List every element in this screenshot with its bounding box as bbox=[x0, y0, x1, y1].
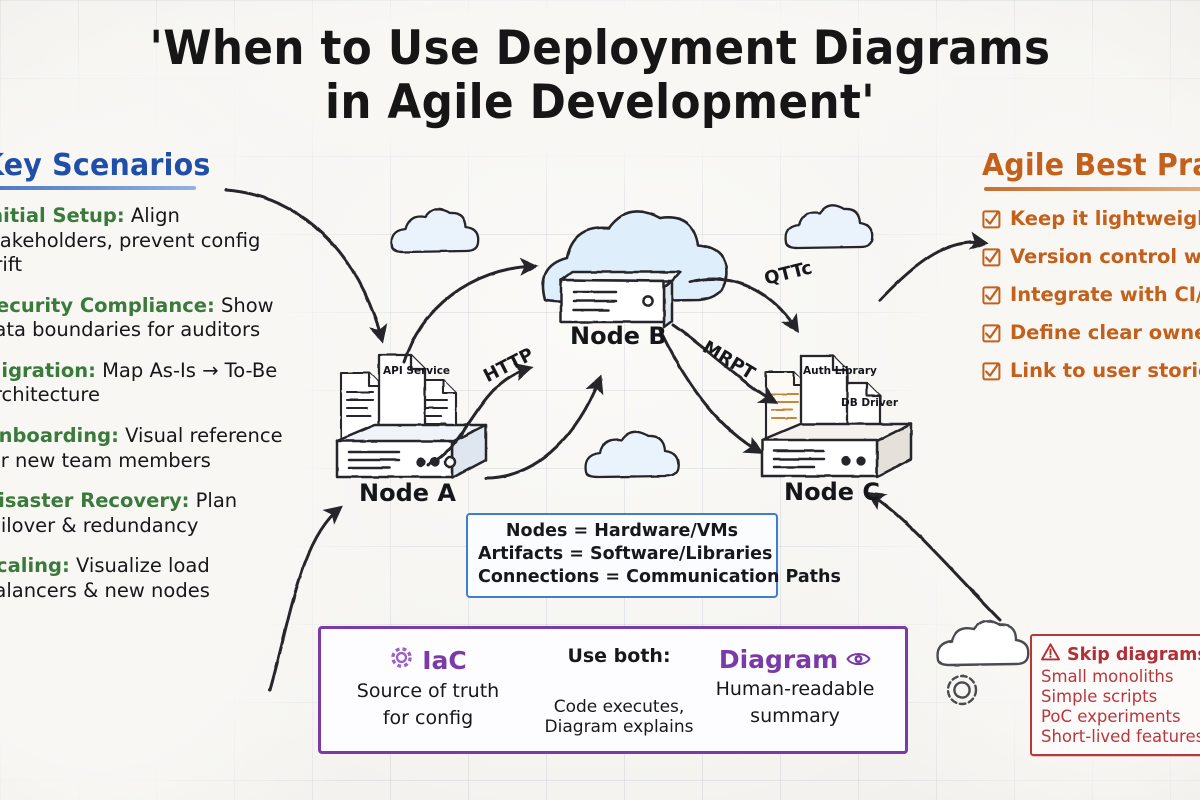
scenario-label: Security Compliance: bbox=[0, 294, 215, 317]
key-scenarios-underline bbox=[0, 186, 196, 190]
use-both-sub-line-1: Code executes, bbox=[539, 697, 699, 717]
practice-label: Integrate with CI/CD pipelines bbox=[1010, 283, 1200, 307]
eye-icon bbox=[846, 645, 871, 674]
warning-list-item: PoC experiments bbox=[1041, 707, 1200, 727]
scenario-label: Scaling: bbox=[0, 554, 70, 577]
iac-heading-text: IaC bbox=[422, 646, 467, 675]
iac-body-line-2: for config bbox=[335, 707, 521, 730]
gear-icon bbox=[389, 645, 414, 676]
agile-best-practices-heading: Agile Best Practices bbox=[982, 148, 1200, 183]
scenario-item: Initial Setup: Align stakeholders, preve… bbox=[0, 204, 294, 278]
cloud-icon bbox=[392, 209, 479, 252]
legend-line: Artifacts = Software/Libraries bbox=[478, 543, 766, 566]
agile-best-practices-underline bbox=[984, 187, 1200, 191]
diagram-heading-text: Diagram bbox=[719, 645, 838, 674]
cloud-icon bbox=[786, 205, 873, 248]
practice-label: Version control with code bbox=[1010, 245, 1200, 269]
agile-best-practices-panel: Agile Best Practices Keep it lightweight… bbox=[982, 148, 1200, 397]
scenario-item: Migration: Map As-Is → To-Be architectur… bbox=[0, 359, 294, 408]
practice-item: Define clear ownership bbox=[982, 321, 1200, 345]
practice-label: Keep it lightweight (<1hr update) bbox=[1010, 207, 1200, 231]
scenario-label: Migration: bbox=[0, 359, 96, 382]
scenario-label: Initial Setup: bbox=[0, 204, 125, 227]
iac-column: IaC Source of truth for config bbox=[335, 645, 521, 730]
practice-label: Link to user stories bbox=[1010, 359, 1200, 383]
arrow-right-to-node-c bbox=[870, 494, 1000, 620]
practice-item: Link to user stories bbox=[982, 359, 1200, 383]
checked-box-icon bbox=[982, 286, 1001, 305]
node-b-shape bbox=[561, 272, 680, 327]
diagram-column: Diagram Human-readable summary bbox=[697, 645, 893, 728]
iac-heading: IaC bbox=[335, 645, 521, 676]
arrow-node-to-right-panel bbox=[880, 242, 985, 300]
warning-list-item: Simple scripts bbox=[1041, 687, 1200, 707]
scenario-item: Disaster Recovery: Plan failover & redun… bbox=[0, 489, 294, 538]
cloud-icon bbox=[938, 621, 1029, 665]
diagram-heading: Diagram bbox=[697, 645, 893, 674]
checked-box-icon bbox=[982, 210, 1001, 229]
warning-triangle-icon bbox=[1041, 643, 1060, 666]
warning-header: Skip diagrams for: bbox=[1041, 643, 1200, 666]
page-title: 'When to Use Deployment Diagrams in Agil… bbox=[42, 22, 1158, 129]
node-b-label: Node B bbox=[570, 322, 667, 350]
connection-a-to-b-2 bbox=[486, 378, 600, 478]
artifact-api-service-label: API Service bbox=[383, 366, 423, 377]
scenario-label: Disaster Recovery: bbox=[0, 489, 189, 512]
title-line-1: 'When to Use Deployment Diagrams bbox=[150, 21, 1051, 76]
practice-label: Define clear ownership bbox=[1010, 321, 1200, 345]
legend-line: Nodes = Hardware/VMs bbox=[478, 520, 766, 543]
scenario-item: Scaling: Visualize load balancers & new … bbox=[0, 554, 294, 603]
practice-item: Integrate with CI/CD pipelines bbox=[982, 283, 1200, 307]
connection-a-to-b bbox=[404, 266, 535, 362]
warning-list-item: Small monoliths bbox=[1041, 667, 1200, 687]
warning-list: Small monoliths Simple scripts PoC exper… bbox=[1041, 667, 1200, 747]
warning-list-item: Short-lived features bbox=[1041, 727, 1200, 747]
node-c-label: Node C bbox=[784, 478, 880, 506]
node-a-label: Node A bbox=[359, 479, 456, 507]
use-both-sub-line-2: Diagram explains bbox=[539, 717, 699, 737]
scenario-label: Onboarding: bbox=[0, 424, 119, 447]
legend-line: Connections = Communication Paths bbox=[478, 566, 766, 589]
artifact-db-driver-label: DB Driver bbox=[841, 398, 879, 409]
key-scenarios-heading: Key Scenarios bbox=[0, 148, 278, 183]
key-scenarios-panel: Key Scenarios Initial Setup: Align stake… bbox=[0, 148, 294, 619]
checked-box-icon bbox=[982, 324, 1001, 343]
practice-item: Version control with code bbox=[982, 245, 1200, 269]
scenario-item: Onboarding: Visual reference for new tea… bbox=[0, 424, 294, 473]
gear-icon bbox=[948, 676, 976, 704]
practice-item: Keep it lightweight (<1hr update) bbox=[982, 207, 1200, 231]
title-line-2: in Agile Development' bbox=[42, 76, 1158, 130]
iac-body-line-1: Source of truth bbox=[335, 680, 521, 703]
diagram-body-line-2: summary bbox=[697, 705, 893, 728]
use-both-heading: Use both: bbox=[539, 645, 699, 667]
legend-box: Nodes = Hardware/VMs Artifacts = Softwar… bbox=[466, 513, 778, 598]
artifact-auth-library-label: Auth Library bbox=[803, 366, 845, 377]
iac-vs-diagram-box: IaC Source of truth for config Use both:… bbox=[318, 626, 908, 754]
checked-box-icon bbox=[982, 362, 1001, 381]
checked-box-icon bbox=[982, 248, 1001, 267]
cloud-icon bbox=[586, 432, 679, 477]
use-both-column: Use both: Code executes, Diagram explain… bbox=[539, 645, 699, 738]
skip-diagrams-warning-box: Skip diagrams for: Small monoliths Simpl… bbox=[1030, 634, 1200, 756]
warning-heading-text: Skip diagrams for: bbox=[1067, 645, 1200, 665]
scenario-item: Security Compliance: Show data boundarie… bbox=[0, 294, 294, 343]
diagram-body-line-1: Human-readable bbox=[697, 678, 893, 701]
